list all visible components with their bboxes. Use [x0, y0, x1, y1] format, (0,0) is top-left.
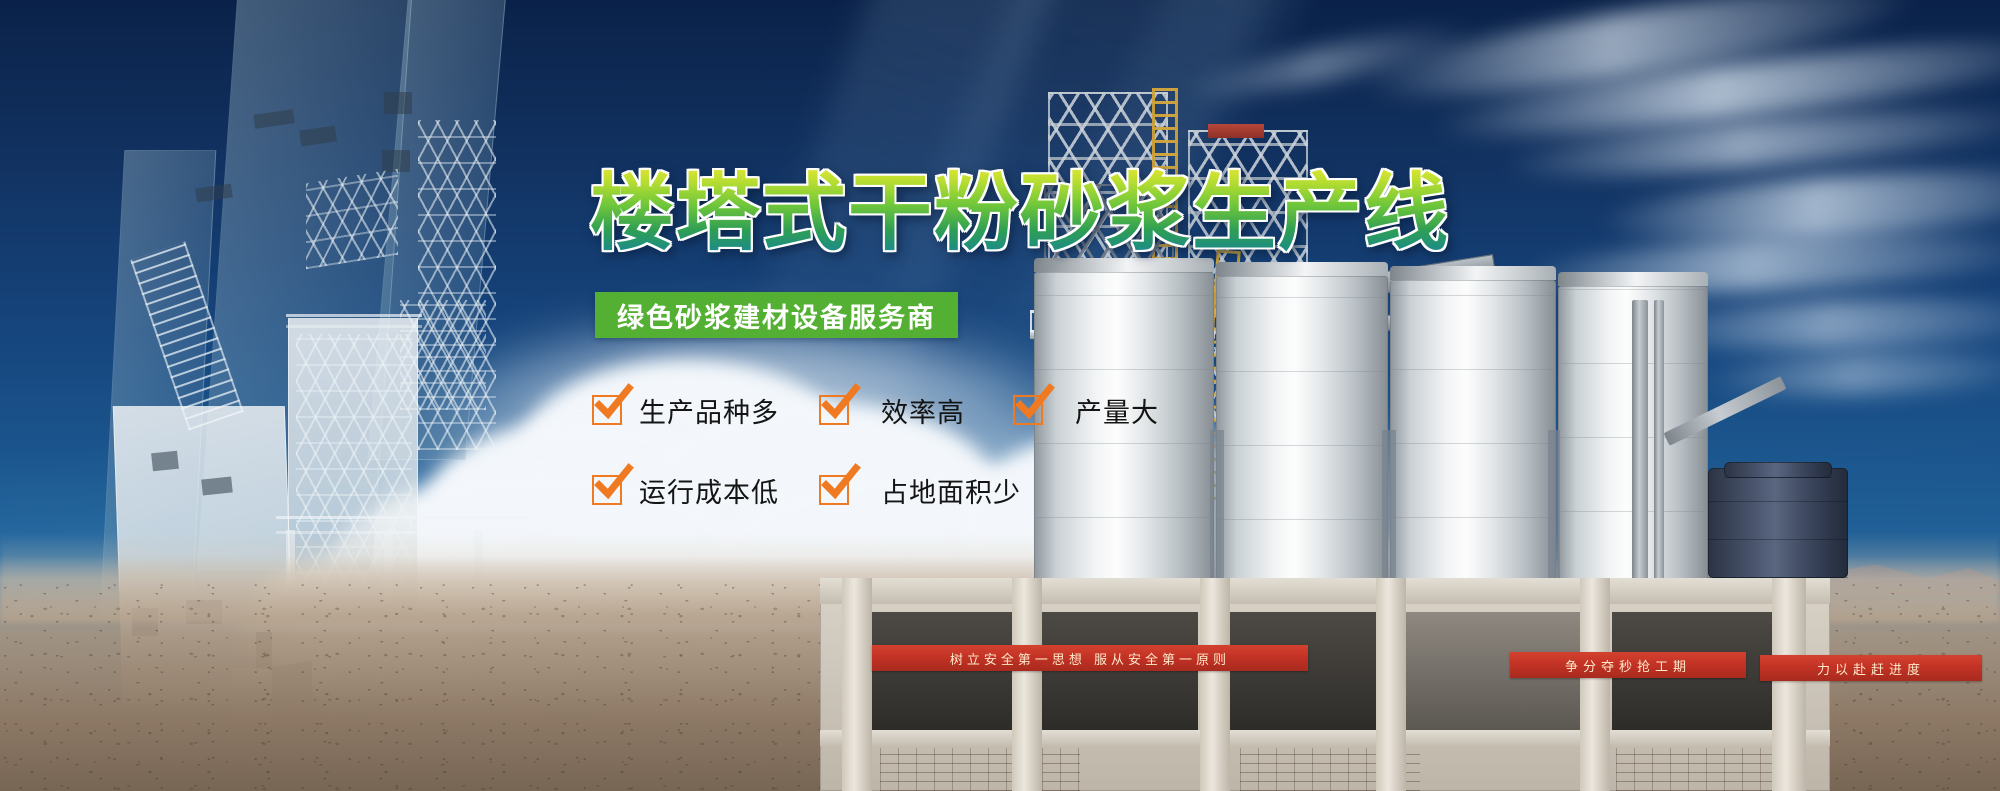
feature-label: 产量大 — [1075, 391, 1159, 430]
feature-label: 占地面积少 — [881, 471, 1021, 510]
banner-copy: 楼塔式干粉砂浆生产线 绿色砂浆建材设备服务商 生产品种多 效率高 — [0, 0, 2000, 791]
feature-row: 运行成本低 占地面积少 — [592, 466, 1165, 514]
checkbox-checked-icon — [592, 475, 622, 505]
feature-label: 效率高 — [881, 391, 965, 430]
checkbox-checked-icon — [819, 475, 849, 505]
feature-list: 生产品种多 效率高 产量大 — [592, 386, 1165, 546]
feature-item: 产量大 — [1013, 391, 1165, 430]
subtitle-badge: 绿色砂浆建材设备服务商 — [595, 292, 958, 338]
feature-label: 生产品种多 — [639, 391, 779, 430]
hero-banner: 树立安全第一思想 服从安全第一原则 争分夺秒抢工期 力以赴赶进度 楼塔式干粉砂浆… — [0, 0, 2000, 791]
feature-row: 生产品种多 效率高 产量大 — [592, 386, 1165, 434]
feature-item: 效率高 — [819, 391, 971, 430]
checkbox-checked-icon — [1013, 395, 1043, 425]
feature-item: 运行成本低 — [592, 471, 785, 510]
feature-item: 生产品种多 — [592, 391, 785, 430]
page-title: 楼塔式干粉砂浆生产线 — [590, 166, 1450, 260]
subtitle-text: 绿色砂浆建材设备服务商 — [617, 296, 936, 335]
feature-label: 运行成本低 — [639, 471, 779, 510]
checkbox-checked-icon — [592, 395, 622, 425]
feature-item: 占地面积少 — [819, 471, 1027, 510]
checkbox-checked-icon — [819, 395, 849, 425]
